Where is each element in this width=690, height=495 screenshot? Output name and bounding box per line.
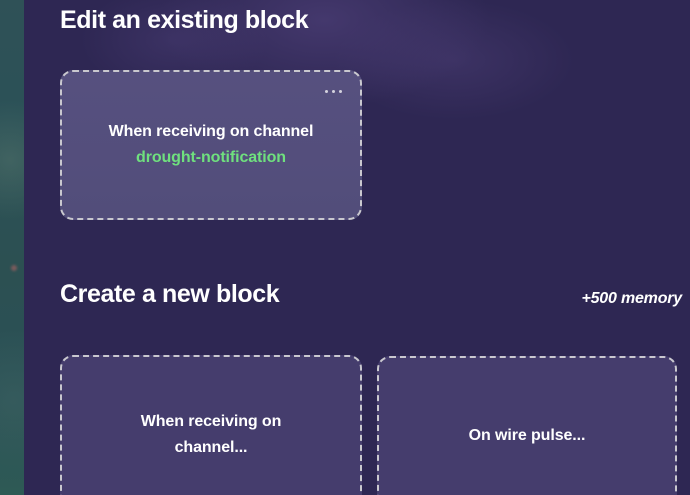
existing-block-channel-name: drought-notification <box>109 145 314 171</box>
block-editor-panel: Edit an existing block When receiving on… <box>24 0 690 495</box>
new-block-left-text: When receiving on channel... <box>108 409 314 461</box>
existing-block-text: When receiving on channel drought-notifi… <box>91 119 332 171</box>
kebab-dot-3 <box>339 90 342 93</box>
existing-block-prefix: When receiving on channel <box>109 119 314 145</box>
new-block-left-label: When receiving on channel... <box>126 409 296 461</box>
memory-cost-badge: +500 memory <box>581 290 682 308</box>
new-block-right-text: On wire pulse... <box>451 423 604 449</box>
section-title-edit-existing: Edit an existing block <box>60 6 308 35</box>
new-block-option-on-wire-pulse[interactable]: On wire pulse... <box>377 356 677 495</box>
new-block-right-label: On wire pulse... <box>469 423 586 449</box>
kebab-dot-1 <box>325 90 328 93</box>
section-title-create-new: Create a new block <box>60 280 279 309</box>
app-screen: Edit an existing block When receiving on… <box>0 0 690 495</box>
existing-block-card[interactable]: When receiving on channel drought-notifi… <box>60 70 362 220</box>
new-block-option-when-receiving-on-channel[interactable]: When receiving on channel... <box>60 355 362 495</box>
backdrop-dot <box>11 265 17 271</box>
kebab-dot-2 <box>332 90 335 93</box>
panel-content: Edit an existing block When receiving on… <box>24 0 690 495</box>
kebab-menu-icon[interactable] <box>321 86 346 97</box>
